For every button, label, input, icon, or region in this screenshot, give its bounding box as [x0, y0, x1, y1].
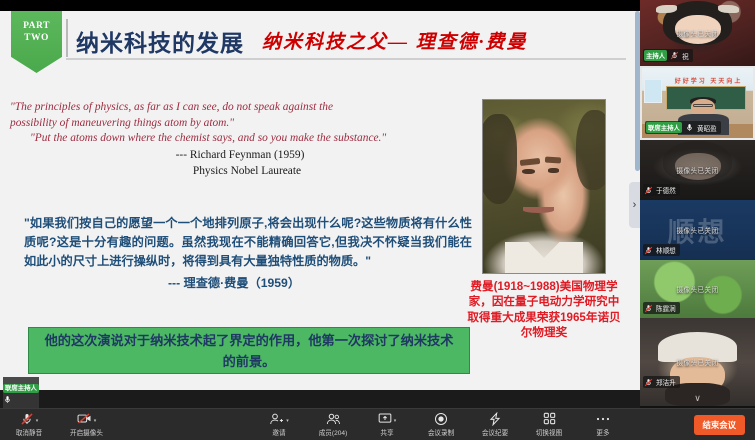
chevron-right-icon[interactable]: ›	[629, 182, 640, 228]
portrait-brow-left	[519, 158, 539, 166]
record-button[interactable]: 会议录制	[426, 411, 456, 437]
speaker-head	[691, 99, 715, 116]
toolbar-button-label: 取消静音	[16, 427, 42, 437]
more-dots-icon	[596, 411, 610, 426]
status-badge: 联席主持人	[3, 384, 39, 393]
mic-muted-icon	[644, 304, 653, 313]
conclusion-callout: 他的这次演说对于纳米技术起了界定的作用，他第一次探讨了纳米技术的前景。	[28, 327, 470, 374]
classroom-banner: 好好学习 天天向上	[673, 76, 744, 84]
video-tile[interactable]: 好好学习 天天向上 联席主持人 黄昭盈	[640, 66, 755, 140]
header-divider	[66, 19, 68, 57]
video-tile[interactable]: 摄像头已关闭 于德然	[640, 140, 755, 200]
toolbar-button-label: 共享	[380, 427, 393, 437]
portrait-image	[483, 100, 605, 273]
video-tile[interactable]: 顺想 摄像头已关闭 林顺想	[640, 200, 755, 260]
record-icon	[434, 411, 448, 426]
portrait-eye-right	[548, 168, 559, 172]
mic-on-icon	[685, 123, 694, 132]
meeting-window: PART TWO 纳米科技的发展 纳米科技之父— 理查德·费曼 "The pri…	[0, 0, 755, 440]
chevron-up-icon[interactable]: ▾	[94, 419, 97, 424]
toolbar-button-label: 会议录制	[428, 427, 454, 437]
unmute-button[interactable]: ▾ 取消静音	[14, 411, 44, 437]
mic-muted-icon	[670, 51, 679, 60]
glasses-icon	[693, 104, 713, 107]
participants-icon	[326, 411, 341, 426]
video-tile[interactable]: 摄像头已关闭 陈霆涧	[640, 260, 755, 318]
part-badge: PART TWO	[11, 11, 62, 73]
shared-screen-stage[interactable]: PART TWO 纳米科技的发展 纳米科技之父— 理查德·费曼 "The pri…	[0, 0, 640, 408]
video-tile[interactable]: 摄像头已关闭 主持人 祝	[640, 0, 755, 66]
camera-off-label: 摄像头已关闭	[640, 357, 755, 367]
camera-off-label: 摄像头已关闭	[640, 165, 755, 175]
camera-off-label: 摄像头已关闭	[640, 284, 755, 294]
invite-user-icon: ▾	[269, 411, 289, 426]
start-camera-button[interactable]: ▾ 开启摄像头	[70, 411, 103, 437]
mic-muted-icon: ▾	[20, 411, 39, 426]
mic-muted-icon	[644, 186, 653, 195]
english-quote-line3: "Put the atoms down where the chemist sa…	[10, 131, 470, 147]
classroom-window	[644, 79, 662, 103]
toolbar-right-group: 结束会议	[694, 415, 746, 435]
toolbar-left-group: ▾ 取消静音 ▾ 开启摄像头	[14, 411, 103, 437]
portrait-eye-left	[522, 169, 535, 174]
chevron-up-icon[interactable]: ▾	[36, 419, 39, 424]
participant-name: 林顺想	[656, 245, 676, 255]
quote-attribution: --- Richard Feynman (1959) Physics Nobel…	[10, 148, 470, 179]
presentation-slide: PART TWO 纳米科技的发展 纳米科技之父— 理查德·费曼 "The pri…	[0, 11, 640, 395]
tile-name-bar: 林顺想	[643, 244, 680, 256]
portrait-brow-right	[545, 157, 561, 164]
chinese-quote: "如果我们按自己的愿望一个一个地排列原子,将会出现什么呢?这些物质将有什么性质呢…	[24, 214, 472, 271]
participant-name: 陈霆涧	[656, 303, 676, 313]
mic-muted-icon	[644, 246, 653, 255]
video-tile[interactable]: 摄像头已关闭 郑洁升 ∨	[640, 318, 755, 406]
end-meeting-button[interactable]: 结束会议	[694, 415, 746, 435]
share-screen-icon: ▾	[378, 411, 397, 426]
attribution-line2: Physics Nobel Laureate	[10, 164, 470, 180]
toolbar-button-label: 切换视图	[536, 427, 562, 437]
part-badge-line2: TWO	[24, 32, 49, 44]
self-view-name-strip: 联席主持人 黄昭盈	[0, 390, 640, 408]
toolbar-button-label: 更多	[596, 427, 609, 437]
portrait-caption: 费曼(1918~1988)美国物理学家，因在量子电动力学研究中取得重大成果荣获1…	[466, 279, 622, 341]
page-title: 纳米科技的发展	[76, 24, 244, 58]
english-quote: "The principles of physics, as far as I …	[10, 100, 470, 147]
english-quote-line2: possibility of maneuvering things atom b…	[10, 116, 470, 132]
participant-name: 黄昭盈	[697, 123, 717, 133]
slide-subtitle: 纳米科技之父— 理查德·费曼	[262, 27, 528, 54]
participant-name: 祝	[682, 51, 689, 61]
status-badge: 联席主持人	[646, 122, 682, 133]
toolbar-button-label: 邀请	[272, 427, 285, 437]
switch-view-button[interactable]: 切换视图	[534, 411, 564, 437]
invite-button[interactable]: ▾ 邀请	[264, 411, 294, 437]
meeting-notes-icon	[488, 411, 502, 426]
participant-name: 于德然	[656, 185, 676, 195]
camera-off-label: 摄像头已关闭	[640, 28, 755, 38]
status-badge: 主持人	[644, 50, 667, 61]
part-badge-line1: PART	[23, 20, 50, 32]
meeting-notes-button[interactable]: 会议纪要	[480, 411, 510, 437]
english-quote-line1: "The principles of physics, as far as I …	[10, 100, 470, 116]
conclusion-text: 他的这次演说对于纳米技术起了界定的作用，他第一次探讨了纳米技术的前景。	[41, 330, 457, 372]
portrait-hair-right	[576, 110, 606, 190]
mic-muted-icon	[644, 378, 653, 387]
mic-on-icon	[3, 395, 39, 404]
portrait-collar	[505, 242, 583, 274]
toolbar-button-label: 成员(204)	[319, 427, 348, 437]
tile-name-bar: 联席主持人 黄昭盈	[645, 121, 721, 134]
toolbar-button-label: 会议纪要	[482, 427, 508, 437]
feynman-portrait	[482, 99, 606, 274]
attribution-line1: --- Richard Feynman (1959)	[10, 148, 470, 164]
participant-filmstrip[interactable]: 摄像头已关闭 主持人 祝 好好学习 天天向上 联席主持人	[640, 0, 755, 408]
toolbar-button-label: 开启摄像头	[70, 427, 103, 437]
tile-name-bar: 主持人 祝	[643, 49, 693, 62]
camera-off-label: 摄像头已关闭	[640, 225, 755, 235]
camera-off-icon: ▾	[77, 411, 97, 426]
participant-name: 郑洁升	[656, 377, 676, 387]
share-screen-button[interactable]: ▾ 共享	[372, 411, 402, 437]
chevron-up-icon[interactable]: ▾	[394, 419, 397, 424]
avatar-bow-right	[718, 5, 739, 13]
toolbar-center-group: ▾ 邀请 成员(204) ▾ 共享 会议	[264, 411, 618, 437]
slide-header: PART TWO 纳米科技的发展 纳米科技之父— 理查德·费曼	[0, 11, 640, 63]
chinese-quote-attribution: --- 理查德·费曼（1959）	[24, 273, 444, 291]
tile-name-bar: 于德然	[643, 184, 680, 196]
header-underline	[66, 58, 626, 60]
more-options-button[interactable]: 更多	[588, 411, 618, 437]
chevron-up-icon[interactable]: ▾	[286, 419, 289, 424]
grid-view-icon	[543, 411, 556, 426]
participants-button[interactable]: 成员(204)	[318, 411, 348, 437]
portrait-hair-left	[482, 114, 517, 204]
meeting-toolbar: ▾ 取消静音 ▾ 开启摄像头 ▾ 邀请	[0, 408, 755, 440]
portrait-mouth	[523, 207, 554, 213]
tile-name-bar: 陈霆涧	[643, 302, 680, 314]
chevron-down-icon[interactable]: ∨	[694, 393, 701, 404]
tile-name-bar: 郑洁升	[643, 376, 680, 388]
